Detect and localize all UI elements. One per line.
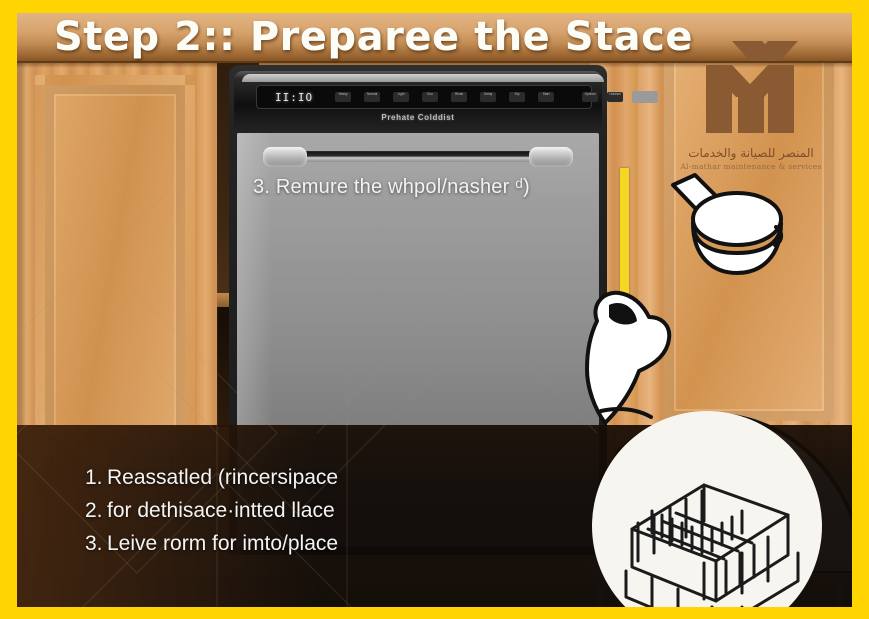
list-item-number: 3. bbox=[85, 527, 107, 560]
control-strip[interactable]: II:IO Heavy Normal Light Eco Rinse Delay… bbox=[256, 85, 592, 109]
button-normal[interactable]: Normal bbox=[364, 92, 380, 102]
dishwasher-brand-text: Prehate Colddist bbox=[234, 113, 602, 122]
cooking-pot-icon bbox=[665, 171, 787, 281]
cycle-buttons[interactable]: Heavy Normal Light Eco Rinse Delay Dry S… bbox=[335, 92, 554, 102]
mid-caption: 3. Remure the whpol/nasher ᵈ) bbox=[253, 176, 613, 199]
option-buttons[interactable]: Options Hold/sel bbox=[582, 91, 658, 103]
button-dry[interactable]: Dry bbox=[509, 92, 525, 102]
list-item: 2.for dethisace·intted llace bbox=[85, 494, 338, 527]
button-rinse[interactable]: Rinse bbox=[451, 92, 467, 102]
list-item: 1.Reassatled (rincersipace bbox=[85, 461, 338, 494]
dishwasher-handle[interactable] bbox=[263, 145, 573, 171]
button-eco[interactable]: Eco bbox=[422, 92, 438, 102]
poster-stage: II:IO Heavy Normal Light Eco Rinse Delay… bbox=[17, 13, 852, 607]
handle-cap-left bbox=[263, 147, 307, 167]
list-item: 3.Leive rorm for imto/place bbox=[85, 527, 338, 560]
handle-cap-right bbox=[529, 147, 573, 167]
dishwasher-control-panel[interactable]: II:IO Heavy Normal Light Eco Rinse Delay… bbox=[234, 71, 602, 133]
dishwasher-display: II:IO bbox=[275, 91, 313, 104]
logo-monogram-icon bbox=[676, 35, 826, 139]
logo: المنصر للصيانة والخدمات Al-mathar mainte… bbox=[676, 35, 826, 183]
list-item-number: 1. bbox=[85, 461, 107, 494]
poster: II:IO Heavy Normal Light Eco Rinse Delay… bbox=[0, 0, 869, 619]
button-start[interactable]: Start bbox=[538, 92, 554, 102]
button-heavy[interactable]: Heavy bbox=[335, 92, 351, 102]
button-lock[interactable] bbox=[632, 91, 658, 103]
page-title: Step 2:: Preparee the Stace bbox=[54, 14, 693, 60]
list-item-text: for dethisace·intted llace bbox=[107, 499, 335, 522]
list-item-text: Reassatled (rincersipace bbox=[107, 466, 338, 489]
panel-top-trim bbox=[242, 74, 604, 82]
handle-bar bbox=[290, 151, 545, 162]
instruction-list: 1.Reassatled (rincersipace 2.for dethisa… bbox=[85, 461, 338, 560]
button-delay[interactable]: Delay bbox=[480, 92, 496, 102]
button-light[interactable]: Light bbox=[393, 92, 409, 102]
logo-arabic-text: المنصر للصيانة والخدمات bbox=[676, 146, 826, 160]
button-hold-select[interactable]: Hold/sel bbox=[607, 92, 623, 102]
logo-latin-text: Al-mathar maintenance & services bbox=[676, 162, 826, 171]
list-item-number: 2. bbox=[85, 494, 107, 527]
list-item-text: Leive rorm for imto/place bbox=[107, 532, 338, 555]
button-options[interactable]: Options bbox=[582, 92, 598, 102]
